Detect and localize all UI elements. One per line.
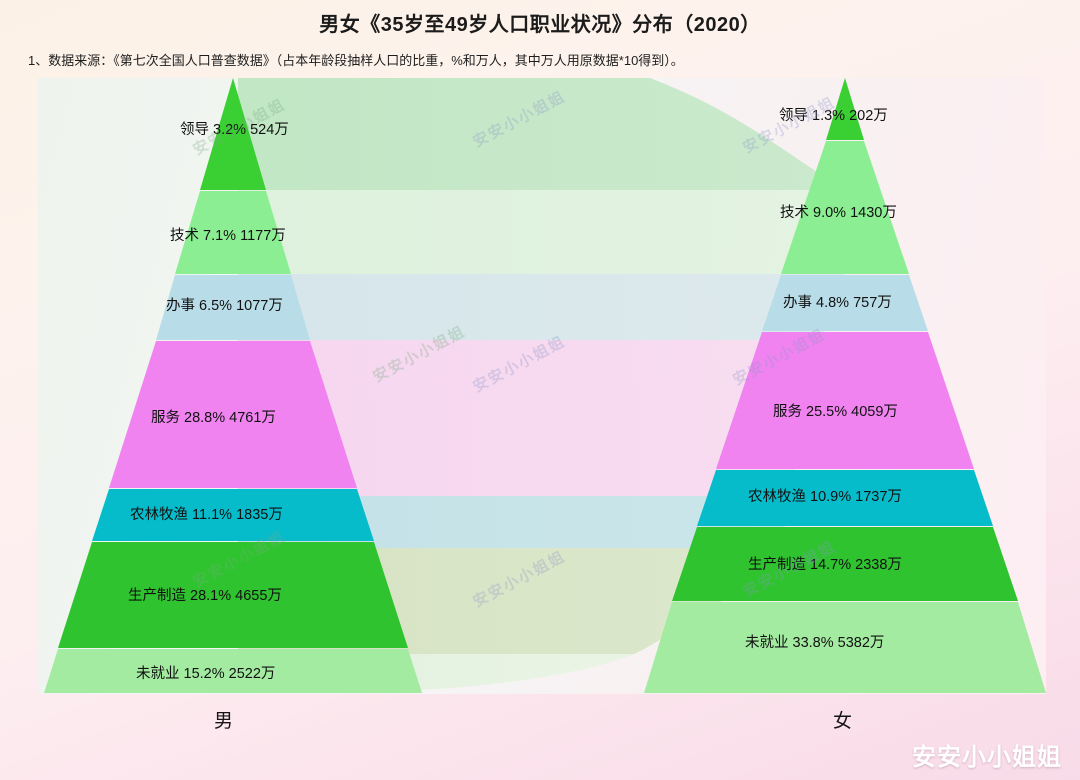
male-label-service: 服务 28.8% 4761万 [151, 409, 276, 426]
male-label-clerk: 办事 6.5% 1077万 [166, 297, 283, 314]
female-label-agri: 农林牧渔 10.9% 1737万 [748, 488, 902, 505]
ribbon-clerk [238, 274, 845, 340]
author-watermark: 安安小小姐姐 [912, 737, 1062, 772]
male-label-manufacturing: 生产制造 28.1% 4655万 [128, 587, 282, 604]
axis-label-male: 男 [214, 706, 233, 733]
male-label-leader: 领导 3.2% 524万 [180, 121, 289, 138]
pyramid-chart: 领导 3.2% 524万 技术 7.1% 1177万 办事 6.5% 1077万… [38, 78, 1046, 694]
female-label-leader: 领导 1.3% 202万 [779, 107, 888, 124]
ribbon-tech [238, 190, 845, 274]
female-label-unemployed: 未就业 33.8% 5382万 [745, 634, 884, 651]
page-title: 男女《35岁至49岁人口职业状况》分布（2020） [0, 8, 1080, 37]
female-label-service: 服务 25.5% 4059万 [773, 403, 898, 420]
male-label-unemployed: 未就业 15.2% 2522万 [136, 665, 275, 682]
male-label-agri: 农林牧渔 11.1% 1835万 [130, 506, 283, 523]
male-label-tech: 技术 7.1% 1177万 [170, 227, 286, 244]
female-label-clerk: 办事 4.8% 757万 [783, 294, 892, 311]
axis-label-female: 女 [833, 706, 852, 733]
plot-area: 领导 3.2% 524万 技术 7.1% 1177万 办事 6.5% 1077万… [38, 78, 1046, 694]
female-label-manufacturing: 生产制造 14.7% 2338万 [748, 556, 902, 573]
chart-subtitle: 1、数据来源：《第七次全国人口普查数据》（占本年龄段抽样人口的比重，%和万人，其… [28, 50, 1048, 69]
female-label-tech: 技术 9.0% 1430万 [780, 204, 897, 221]
chart-page: 男女《35岁至49岁人口职业状况》分布（2020） 1、数据来源：《第七次全国人… [0, 0, 1080, 780]
ribbon-leader [238, 78, 845, 190]
